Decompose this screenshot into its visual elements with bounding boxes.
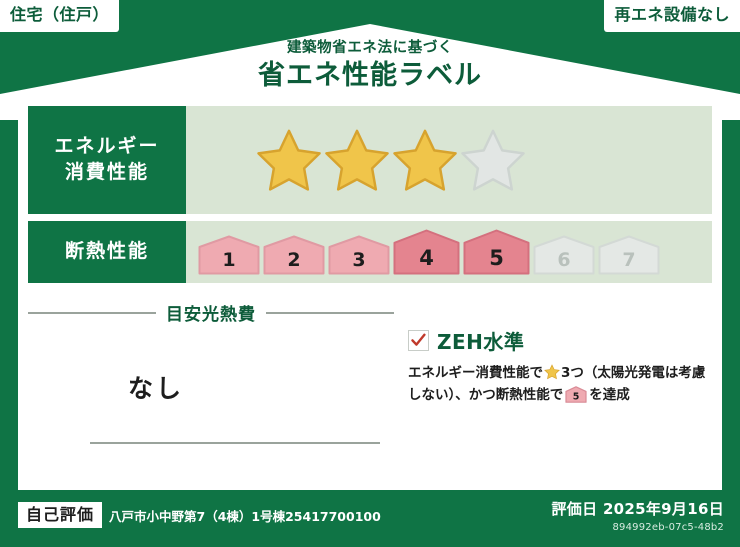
page-title: 省エネ性能ラベル: [0, 59, 740, 93]
label-subtitle: 建築物省エネ法に基づく: [0, 40, 740, 57]
insulation-grade-2: 2: [263, 235, 325, 275]
energy-performance-label: 住宅（住戸） 再エネ設備なし 建築物省エネ法に基づく 省エネ性能ラベル エネルギ…: [0, 0, 740, 547]
insulation-label: 断熱性能: [28, 221, 186, 283]
star-empty-icon: [460, 127, 526, 193]
insulation-value: 1234567: [186, 221, 712, 283]
insulation-grade-7: 7: [598, 235, 660, 275]
energy-consumption-value: [186, 106, 712, 214]
energy-cost-value: なし: [28, 369, 394, 405]
energy-consumption-label-line2: 消費性能: [65, 160, 149, 186]
energy-cost-heading: 目安光熱費: [28, 300, 394, 325]
star-filled-icon: [324, 127, 390, 193]
insulation-grade-number: 6: [557, 249, 570, 271]
insulation-grade-4: 4: [393, 229, 460, 275]
label-footer: 自己評価 八戸市小中野第7（4棟）1号棟25417700100 評価日 2025…: [0, 490, 740, 547]
dwelling-type-badge: 住宅（住戸）: [0, 0, 119, 32]
energy-consumption-row: エネルギー 消費性能: [28, 106, 712, 214]
insulation-grade-number: 7: [622, 249, 635, 271]
heading-rule-right: [266, 312, 394, 314]
inline-star-icon: [544, 364, 560, 380]
zeh-desc-part3: を達成: [589, 387, 630, 403]
insulation-row: 断熱性能 1234567: [28, 221, 712, 283]
evaluation-date: 評価日 2025年9月16日: [552, 498, 725, 519]
insulation-grade-6: 6: [533, 235, 595, 275]
zeh-checkbox: [408, 330, 429, 351]
zeh-description: エネルギー消費性能で 3つ（太陽光発電は考慮しない）、かつ断熱性能で 5 を達成: [408, 363, 712, 407]
star-filled-icon: [392, 127, 458, 193]
renewable-equipment-badge: 再エネ設備なし: [604, 0, 740, 32]
inline-house-icon: 5: [565, 386, 587, 403]
footer-right: 評価日 2025年9月16日 894992eb-07c5-48b2: [552, 498, 725, 533]
cost-divider: [90, 442, 380, 444]
insulation-grade-scale: 1234567: [194, 229, 660, 275]
energy-consumption-label-line1: エネルギー: [54, 134, 159, 160]
energy-cost-column: 目安光熱費 なし: [28, 294, 394, 486]
zeh-column: ZEH水準 エネルギー消費性能で 3つ（太陽光発電は考慮しない）、かつ断熱性能で…: [394, 294, 712, 486]
evaluation-type-badge: 自己評価: [18, 502, 102, 528]
insulation-grade-number: 3: [352, 249, 365, 271]
insulation-grade-number: 5: [489, 246, 504, 270]
zeh-desc-star-count: 3つ（太陽光発電: [561, 365, 665, 381]
zeh-heading: ZEH水準: [408, 326, 712, 355]
energy-cost-heading-text: 目安光熱費: [166, 300, 256, 325]
insulation-grade-3: 3: [328, 235, 390, 275]
evaluation-id: 894992eb-07c5-48b2: [552, 522, 725, 533]
insulation-grade-number: 2: [287, 249, 300, 271]
footer-left: 自己評価 八戸市小中野第7（4棟）1号棟25417700100: [18, 502, 381, 528]
star-filled-icon: [256, 127, 322, 193]
insulation-grade-1: 1: [198, 235, 260, 275]
insulation-grade-number: 4: [419, 246, 434, 270]
lower-section: 目安光熱費 なし ZEH水準 エネルギー消費性能で: [28, 290, 712, 486]
insulation-grade-number: 1: [222, 249, 235, 271]
zeh-desc-part1: エネルギー消費性能で: [408, 365, 543, 381]
insulation-grade-5: 5: [463, 229, 530, 275]
evaluation-date-value: 2025年9月16日: [603, 500, 724, 518]
insulation-label-text: 断熱性能: [65, 239, 149, 265]
label-card: エネルギー 消費性能 断熱性能 1234567 目安光熱費: [18, 96, 722, 490]
property-name: 八戸市小中野第7（4棟）1号棟25417700100: [109, 506, 381, 525]
label-title-block: 建築物省エネ法に基づく 省エネ性能ラベル: [0, 40, 740, 93]
svg-text:5: 5: [573, 391, 580, 402]
heading-rule-left: [28, 312, 156, 314]
evaluation-date-label: 評価日: [552, 500, 598, 518]
star-rating: [194, 127, 526, 193]
energy-consumption-label: エネルギー 消費性能: [28, 106, 186, 214]
zeh-title: ZEH水準: [437, 326, 524, 355]
